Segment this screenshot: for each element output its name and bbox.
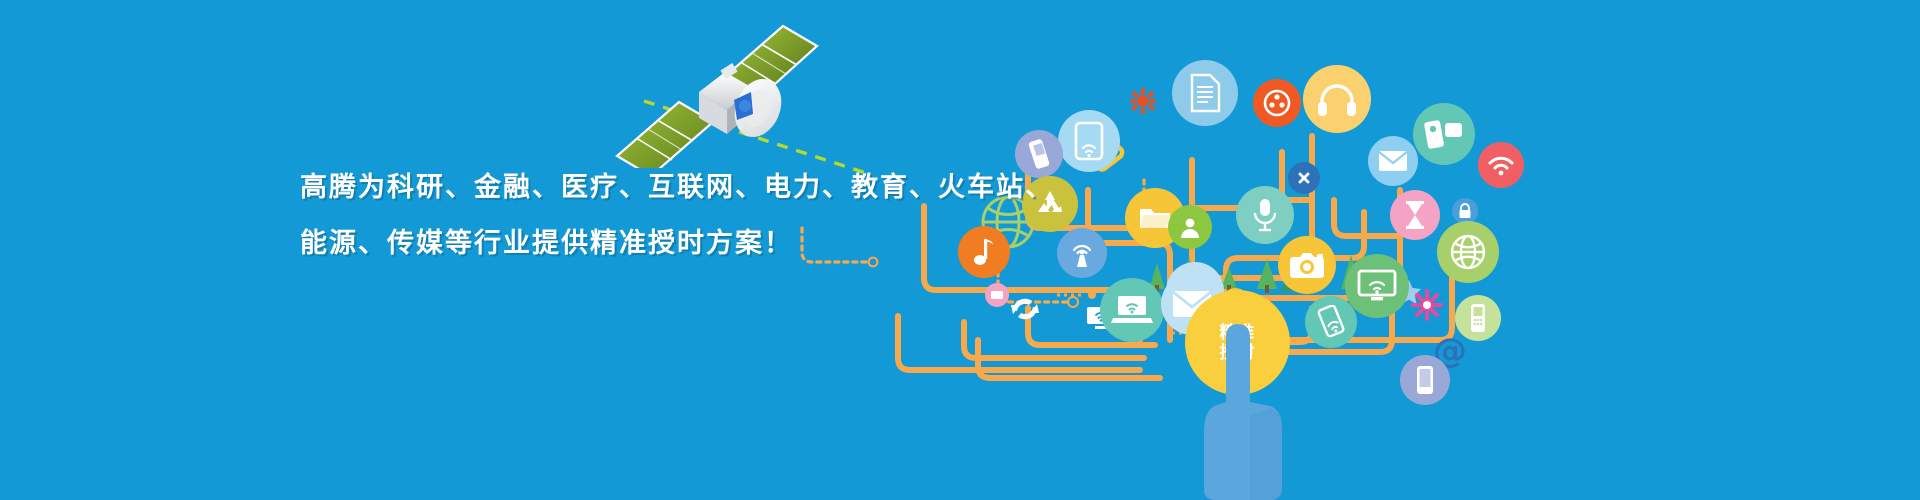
mobile-phone-icon[interactable] xyxy=(1015,130,1063,178)
solar-panel-lower xyxy=(617,102,713,168)
tablet-wifi-icon[interactable] xyxy=(1058,110,1120,172)
broadcast-tower-icon[interactable] xyxy=(1057,228,1107,278)
pointing-hand-icon xyxy=(1196,320,1291,500)
globe-green-icon[interactable] xyxy=(1437,221,1499,283)
microphone-icon[interactable] xyxy=(1236,186,1294,244)
film-reel-icon[interactable] xyxy=(1253,79,1301,127)
monitor-wifi-icon[interactable] xyxy=(1345,254,1409,318)
tablet-small-icon[interactable] xyxy=(1400,355,1450,405)
wifi-signal-icon[interactable] xyxy=(1478,142,1524,188)
phone-feature-icon[interactable] xyxy=(1455,295,1501,341)
photo-camera-icon[interactable] xyxy=(1278,236,1336,294)
flower-pink-icon[interactable] xyxy=(1410,288,1444,322)
recycle-icon[interactable] xyxy=(1022,176,1078,232)
tablet-tilt-icon[interactable] xyxy=(1305,296,1357,348)
small-pink-icon[interactable] xyxy=(985,283,1009,307)
communication-satellite xyxy=(595,8,825,168)
envelope-blue-icon[interactable] xyxy=(1368,136,1418,186)
banner-root: @ @ xyxy=(0,0,1920,500)
hourglass-icon[interactable] xyxy=(1390,190,1440,240)
gear-orange-icon[interactable] xyxy=(1130,88,1156,114)
laptop-wifi-icon[interactable] xyxy=(1100,278,1164,342)
camera-phone-icon[interactable] xyxy=(1413,103,1475,165)
dotted-marker-1 xyxy=(1055,290,1099,300)
document-icon[interactable] xyxy=(1172,60,1238,126)
refresh-arrows-icon[interactable] xyxy=(1008,294,1042,324)
close-circle-icon[interactable] xyxy=(1288,162,1320,194)
user-avatar-icon[interactable] xyxy=(1168,205,1212,249)
music-note-icon[interactable] xyxy=(958,226,1010,278)
headphones-icon[interactable] xyxy=(1303,65,1371,133)
